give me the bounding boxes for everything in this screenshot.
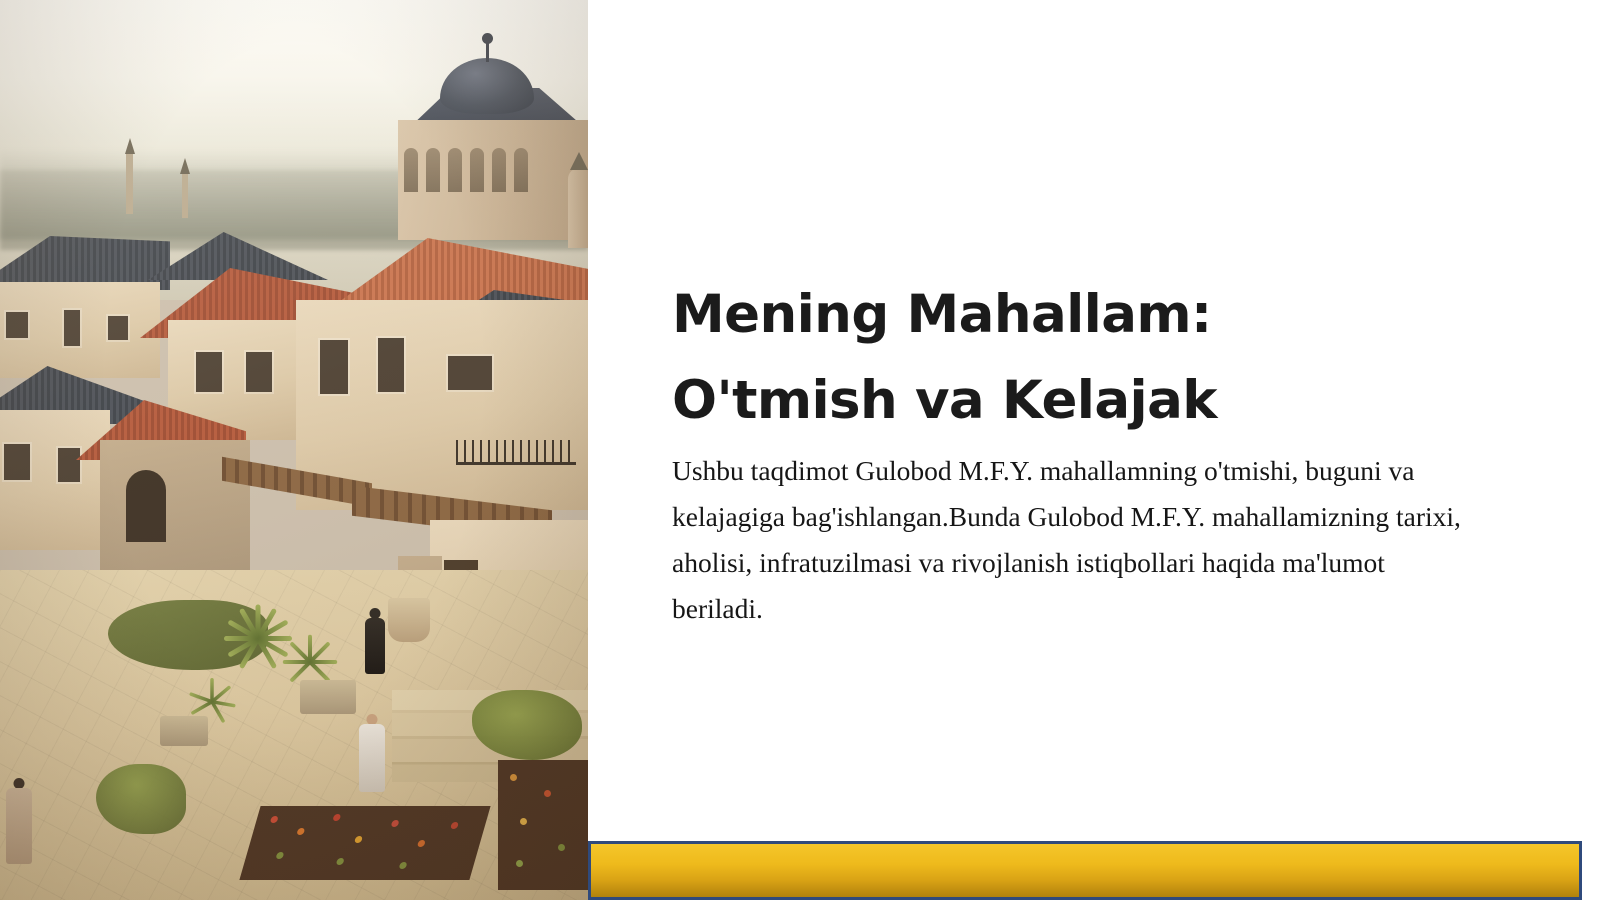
planter-pot bbox=[388, 598, 430, 642]
planter-box bbox=[160, 716, 208, 746]
house-window bbox=[4, 444, 30, 480]
house-window bbox=[6, 312, 28, 338]
house-window bbox=[448, 356, 492, 390]
house-window bbox=[108, 316, 128, 340]
flower-bed bbox=[498, 760, 588, 890]
arch-window bbox=[470, 148, 484, 192]
bottom-accent-bar bbox=[588, 841, 1582, 900]
entrance-archway bbox=[126, 470, 166, 542]
secondary-minaret bbox=[568, 168, 588, 248]
shrub bbox=[96, 764, 186, 834]
person-in-dark-robe bbox=[362, 608, 388, 678]
arch-window bbox=[492, 148, 506, 192]
house-window bbox=[246, 352, 272, 392]
house-window bbox=[58, 448, 80, 482]
person-body bbox=[359, 724, 385, 792]
page-title: Mening Mahallam: O'tmish va Kelajak bbox=[672, 272, 1472, 444]
person-bottom-left bbox=[4, 778, 34, 868]
person-body bbox=[365, 618, 385, 674]
planter-box bbox=[300, 680, 356, 714]
house-window bbox=[196, 352, 222, 392]
arch-window bbox=[514, 148, 528, 192]
slide-photo-panel bbox=[0, 0, 588, 900]
arch-window bbox=[448, 148, 462, 192]
house-wall bbox=[0, 410, 110, 550]
flower-bed bbox=[239, 806, 490, 880]
person-body bbox=[6, 788, 32, 864]
arch-window bbox=[404, 148, 418, 192]
balcony-railing bbox=[456, 440, 576, 465]
mosque-arched-windows bbox=[404, 148, 528, 192]
house-window bbox=[320, 340, 348, 394]
slide-body-paragraph: Ushbu taqdimot Gulobod M.F.Y. mahallamni… bbox=[672, 448, 1472, 632]
presentation-slide: Mening Mahallam: O'tmish va Kelajak Ushb… bbox=[0, 0, 1600, 900]
background-minaret-icon bbox=[182, 172, 188, 218]
person-in-light-robe bbox=[356, 714, 388, 796]
title-line-2: O'tmish va Kelajak bbox=[672, 358, 1472, 444]
title-line-1: Mening Mahallam: bbox=[672, 272, 1472, 358]
slide-content-panel: Mening Mahallam: O'tmish va Kelajak Ushb… bbox=[588, 0, 1600, 900]
background-minaret-icon bbox=[126, 152, 133, 214]
arch-window bbox=[426, 148, 440, 192]
house-window bbox=[378, 338, 404, 392]
house-window bbox=[64, 310, 80, 346]
mahalla-photograph bbox=[0, 0, 588, 900]
dome-spire-icon bbox=[486, 40, 489, 62]
